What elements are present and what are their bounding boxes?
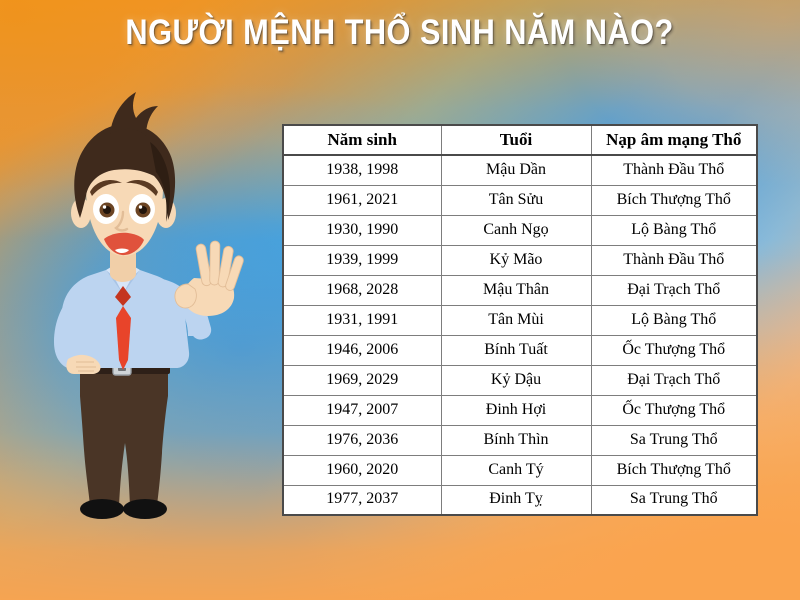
cell-earth-sound: Bích Thượng Thổ [591, 185, 757, 215]
table-row: 1968, 2028Mậu ThânĐại Trạch Thổ [283, 275, 757, 305]
column-header-birth-year: Năm sinh [283, 125, 441, 155]
cell-earth-sound: Sa Trung Thổ [591, 425, 757, 455]
column-header-earth-sound: Nạp âm mạng Thổ [591, 125, 757, 155]
trousers-group [80, 371, 168, 506]
table-header: Năm sinh Tuổi Nạp âm mạng Thổ [283, 125, 757, 155]
cell-birth-year: 1930, 1990 [283, 215, 441, 245]
cell-age-sign: Canh Tý [441, 455, 591, 485]
table-row: 1960, 2020Canh TýBích Thượng Thổ [283, 455, 757, 485]
cell-earth-sound: Thành Đầu Thổ [591, 245, 757, 275]
cell-birth-year: 1960, 2020 [283, 455, 441, 485]
cartoon-man-waving-illustration [18, 78, 268, 558]
waving-hand-group [175, 241, 245, 316]
cell-earth-sound: Bích Thượng Thổ [591, 455, 757, 485]
cell-age-sign: Mậu Thân [441, 275, 591, 305]
cell-birth-year: 1939, 1999 [283, 245, 441, 275]
cell-age-sign: Tân Sửu [441, 185, 591, 215]
table-row: 1930, 1990Canh NgọLộ Bàng Thổ [283, 215, 757, 245]
table-row: 1947, 2007Đinh HợiỐc Thượng Thổ [283, 395, 757, 425]
cell-birth-year: 1968, 2028 [283, 275, 441, 305]
cell-age-sign: Kỷ Dậu [441, 365, 591, 395]
table-row: 1976, 2036Bính ThìnSa Trung Thổ [283, 425, 757, 455]
cell-age-sign: Canh Ngọ [441, 215, 591, 245]
shoes-group [80, 499, 167, 519]
table-row: 1977, 2037Đinh TỵSa Trung Thổ [283, 485, 757, 515]
cell-earth-sound: Thành Đầu Thổ [591, 155, 757, 185]
cell-birth-year: 1976, 2036 [283, 425, 441, 455]
cell-age-sign: Mậu Dần [441, 155, 591, 185]
zodiac-table-container: Năm sinh Tuổi Nạp âm mạng Thổ 1938, 1998… [282, 124, 756, 516]
cell-age-sign: Tân Mùi [441, 305, 591, 335]
table-row: 1961, 2021Tân SửuBích Thượng Thổ [283, 185, 757, 215]
column-header-age-sign: Tuổi [441, 125, 591, 155]
cell-earth-sound: Đại Trạch Thổ [591, 275, 757, 305]
cell-earth-sound: Ốc Thượng Thổ [591, 335, 757, 365]
cell-age-sign: Bính Tuất [441, 335, 591, 365]
cell-age-sign: Bính Thìn [441, 425, 591, 455]
cell-earth-sound: Sa Trung Thổ [591, 485, 757, 515]
cell-birth-year: 1931, 1991 [283, 305, 441, 335]
cell-age-sign: Đinh Tỵ [441, 485, 591, 515]
page-title: NGƯỜI MỆNH THỔ SINH NĂM NÀO? [126, 13, 674, 53]
cell-birth-year: 1969, 2029 [283, 365, 441, 395]
table-header-row: Năm sinh Tuổi Nạp âm mạng Thổ [283, 125, 757, 155]
zodiac-earth-element-table: Năm sinh Tuổi Nạp âm mạng Thổ 1938, 1998… [282, 124, 758, 516]
cell-birth-year: 1946, 2006 [283, 335, 441, 365]
cell-age-sign: Kỷ Mão [441, 245, 591, 275]
table-row: 1969, 2029Kỷ DậuĐại Trạch Thổ [283, 365, 757, 395]
table-row: 1931, 1991Tân MùiLộ Bàng Thổ [283, 305, 757, 335]
table-body: 1938, 1998Mậu DầnThành Đầu Thổ1961, 2021… [283, 155, 757, 515]
cell-birth-year: 1947, 2007 [283, 395, 441, 425]
table-row: 1939, 1999Kỷ MãoThành Đầu Thổ [283, 245, 757, 275]
cell-earth-sound: Lộ Bàng Thổ [591, 215, 757, 245]
cell-birth-year: 1977, 2037 [283, 485, 441, 515]
table-row: 1938, 1998Mậu DầnThành Đầu Thổ [283, 155, 757, 185]
title-banner: NGƯỜI MỆNH THỔ SINH NĂM NÀO? [0, 0, 800, 66]
cell-earth-sound: Ốc Thượng Thổ [591, 395, 757, 425]
cell-earth-sound: Lộ Bàng Thổ [591, 305, 757, 335]
cell-birth-year: 1961, 2021 [283, 185, 441, 215]
cell-earth-sound: Đại Trạch Thổ [591, 365, 757, 395]
cell-birth-year: 1938, 1998 [283, 155, 441, 185]
cell-age-sign: Đinh Hợi [441, 395, 591, 425]
table-row: 1946, 2006Bính TuấtỐc Thượng Thổ [283, 335, 757, 365]
